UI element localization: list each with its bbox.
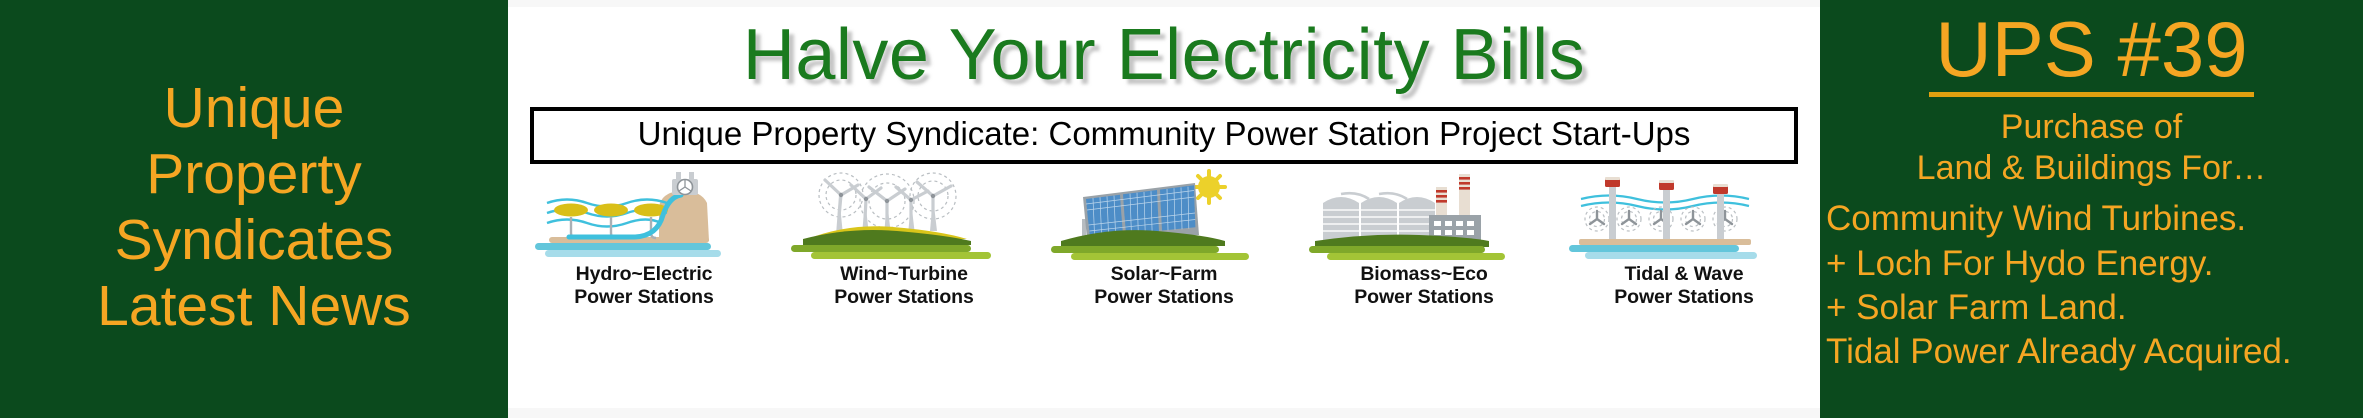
station-caption-hydro-electric: Hydro~Electric Power Stations [574,263,713,308]
subtitle-text: Unique Property Syndicate: Community Pow… [550,116,1778,152]
ups-subtitle-line-2: Land & Buildings For… [1917,148,2267,189]
caption-line-2: Power Stations [1094,286,1233,309]
bottom-divider-strip [508,408,1820,418]
ups-subtitle-line-1: Purchase of [1917,107,2267,148]
left-panel-line-4: Latest News [97,273,411,339]
station-types-row: Hydro~Electric Power Stations [508,169,1820,308]
tidal-wave-icon [1554,169,1814,261]
caption-line-1: Tidal & Wave [1614,263,1753,286]
left-panel-line-3: Syndicates [115,207,394,273]
hydro-electric-icon [514,169,774,261]
right-offer-panel: UPS #39 Purchase of Land & Buildings For… [1820,0,2363,418]
list-item: Community Wind Turbines. [1826,197,2363,241]
station-caption-biomass-eco: Biomass~Eco Power Stations [1354,263,1493,308]
caption-line-2: Power Stations [1354,286,1493,309]
list-item: + Solar Farm Land. [1826,286,2363,330]
left-news-panel: Unique Property Syndicates Latest News [0,0,508,418]
caption-line-1: Biomass~Eco [1354,263,1493,286]
center-inner: Halve Your Electricity Bills Unique Prop… [508,7,1820,408]
station-card-tidal-wave: Tidal & Wave Power Stations [1554,169,1814,308]
caption-line-2: Power Stations [834,286,973,309]
caption-line-2: Power Stations [1614,286,1753,309]
station-card-wind-turbine: Wind~Turbine Power Stations [774,169,1034,308]
solar-farm-icon [1034,169,1294,261]
caption-line-1: Wind~Turbine [834,263,973,286]
left-panel-line-1: Unique [164,75,345,141]
biomass-eco-icon [1294,169,1554,261]
station-card-solar-farm: Solar~Farm Power Stations [1034,169,1294,308]
ups-reference-title: UPS #39 [1929,10,2253,97]
promo-banner: Unique Property Syndicates Latest News H… [0,0,2363,418]
station-caption-tidal-wave: Tidal & Wave Power Stations [1614,263,1753,308]
list-item: Tidal Power Already Acquired. [1826,330,2363,374]
station-caption-solar-farm: Solar~Farm Power Stations [1094,263,1233,308]
station-card-hydro-electric: Hydro~Electric Power Stations [514,169,774,308]
top-divider-strip [508,0,1820,7]
station-card-biomass-eco: Biomass~Eco Power Stations [1294,169,1554,308]
station-caption-wind-turbine: Wind~Turbine Power Stations [834,263,973,308]
subtitle-box: Unique Property Syndicate: Community Pow… [530,107,1798,164]
left-panel-line-2: Property [146,141,361,207]
page-title: Halve Your Electricity Bills [743,19,1585,91]
caption-line-2: Power Stations [574,286,713,309]
caption-line-1: Hydro~Electric [574,263,713,286]
center-content-panel: Halve Your Electricity Bills Unique Prop… [508,0,1820,418]
ups-asset-list: Community Wind Turbines. + Loch For Hydo… [1820,197,2363,373]
list-item: + Loch For Hydo Energy. [1826,242,2363,286]
ups-subtitle: Purchase of Land & Buildings For… [1917,107,2267,190]
wind-turbine-icon [774,169,1034,261]
caption-line-1: Solar~Farm [1094,263,1233,286]
